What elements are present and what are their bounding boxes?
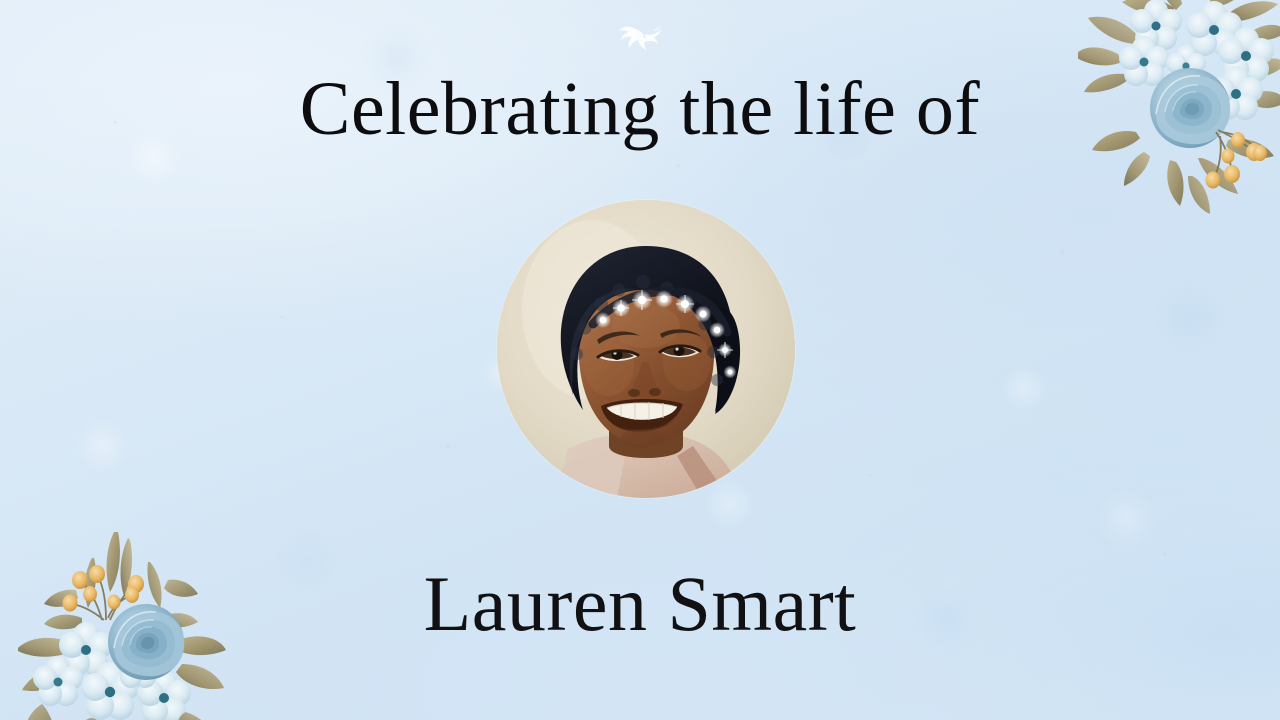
dove-icon	[614, 12, 666, 62]
memorial-slide: Celebrating the life of	[0, 0, 1280, 720]
portrait-photo	[497, 200, 795, 498]
floral-bouquet-icon	[1078, 0, 1280, 214]
floral-bouquet-icon	[18, 524, 226, 720]
portrait-image	[497, 200, 795, 498]
